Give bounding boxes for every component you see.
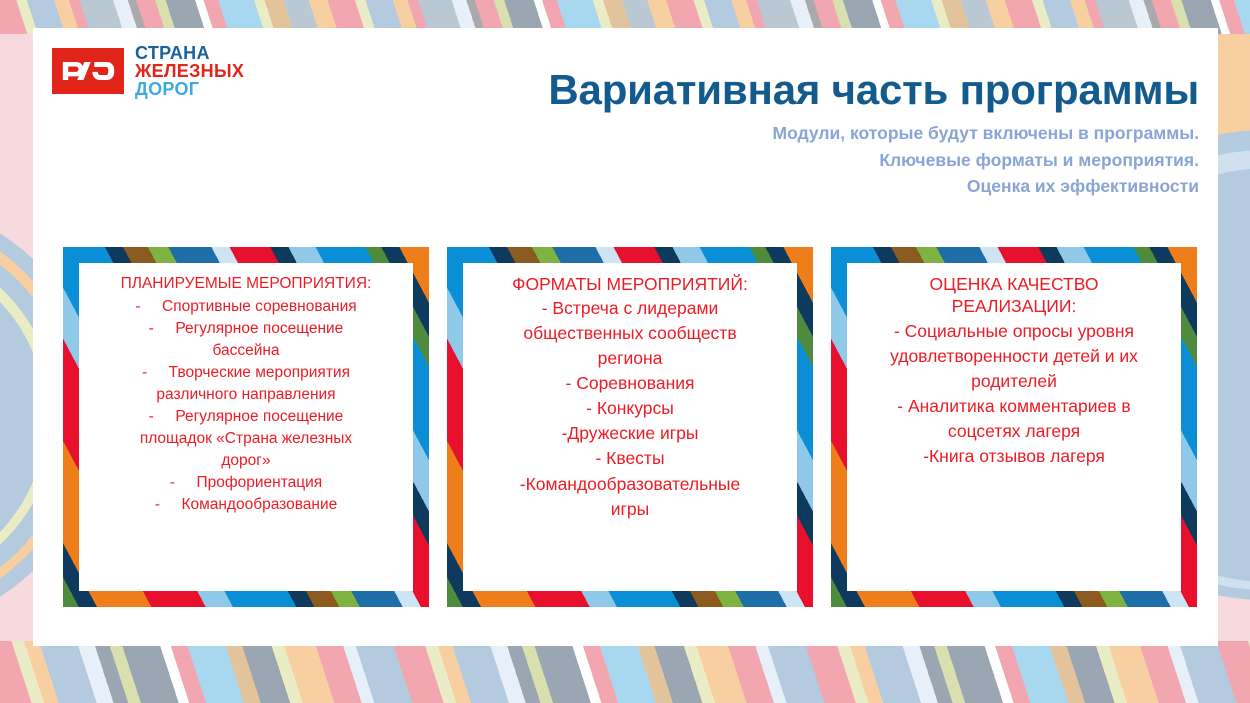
subtitle-line-2: Ключевые форматы и мероприятия. bbox=[519, 147, 1199, 174]
rzd-logo-mark-icon bbox=[52, 48, 124, 94]
logo-word-line1: СТРАНА bbox=[135, 44, 244, 62]
card-line: - Регулярное посещение bbox=[135, 318, 356, 340]
rzd-logo: СТРАНА ЖЕЛЕЗНЫХ ДОРОГ bbox=[52, 44, 244, 98]
card-line: -Командообразовательные bbox=[520, 472, 740, 497]
slide-canvas: СТРАНА ЖЕЛЕЗНЫХ ДОРОГ Вариативная часть … bbox=[33, 28, 1218, 646]
subtitle-line-3: Оценка их эффективности bbox=[519, 173, 1199, 200]
card-line: общественных сообществ bbox=[520, 321, 740, 346]
card-line: - Профориентация bbox=[135, 472, 356, 494]
card-line: региона bbox=[520, 346, 740, 371]
page-subtitle: Модули, которые будут включены в програм… bbox=[519, 120, 1199, 200]
card-line-list: - Спортивные соревнования - Регулярное п… bbox=[135, 296, 356, 516]
card-line: -Книга отзывов лагеря bbox=[890, 444, 1138, 469]
card-line: - Социальные опросы уровня bbox=[890, 319, 1138, 344]
card-quality-assessment: ОЦЕНКА КАЧЕСТВО РЕАЛИЗАЦИИ: - Социальные… bbox=[831, 247, 1197, 607]
card-body: ФОРМАТЫ МЕРОПРИЯТИЙ: - Встреча с лидерам… bbox=[463, 263, 797, 591]
card-title: ФОРМАТЫ МЕРОПРИЯТИЙ: bbox=[512, 273, 748, 295]
card-line: - Встреча с лидерами bbox=[520, 296, 740, 321]
card-line: - Регулярное посещение bbox=[135, 406, 356, 428]
page-title: Вариативная часть программы bbox=[548, 66, 1199, 114]
logo-word-line3: ДОРОГ bbox=[135, 80, 244, 98]
card-line: - Аналитика комментариев в bbox=[890, 394, 1138, 419]
card-line: различного направления bbox=[135, 384, 356, 406]
background-stripes-bottom bbox=[0, 641, 1250, 703]
card-body: ОЦЕНКА КАЧЕСТВО РЕАЛИЗАЦИИ: - Социальные… bbox=[847, 263, 1181, 591]
card-line: удовлетворенности детей и их bbox=[890, 344, 1138, 369]
logo-word-line2: ЖЕЛЕЗНЫХ bbox=[135, 62, 244, 80]
card-title-line-1: ОЦЕНКА КАЧЕСТВО bbox=[930, 273, 1099, 295]
card-body: ПЛАНИРУЕМЫЕ МЕРОПРИЯТИЯ: - Спортивные со… bbox=[79, 263, 413, 591]
card-title: ОЦЕНКА КАЧЕСТВО РЕАЛИЗАЦИИ: bbox=[930, 273, 1099, 318]
card-event-formats: ФОРМАТЫ МЕРОПРИЯТИЙ: - Встреча с лидерам… bbox=[447, 247, 813, 607]
card-line: родителей bbox=[890, 369, 1138, 394]
card-line: дорог» bbox=[135, 450, 356, 472]
card-line: - Квесты bbox=[520, 446, 740, 471]
content-cards: ПЛАНИРУЕМЫЕ МЕРОПРИЯТИЯ: - Спортивные со… bbox=[63, 247, 1198, 607]
card-line: - Соревнования bbox=[520, 371, 740, 396]
card-line: бассейна bbox=[135, 340, 356, 362]
presentation-slide: СТРАНА ЖЕЛЕЗНЫХ ДОРОГ Вариативная часть … bbox=[0, 0, 1250, 703]
card-planned-events: ПЛАНИРУЕМЫЕ МЕРОПРИЯТИЯ: - Спортивные со… bbox=[63, 247, 429, 607]
rzd-logo-wordmark: СТРАНА ЖЕЛЕЗНЫХ ДОРОГ bbox=[135, 44, 244, 98]
card-line-list: - Встреча с лидерами общественных сообще… bbox=[520, 296, 740, 521]
card-line: соцсетях лагеря bbox=[890, 419, 1138, 444]
card-line: площадок «Страна железных bbox=[135, 428, 356, 450]
subtitle-line-1: Модули, которые будут включены в програм… bbox=[519, 120, 1199, 147]
card-line: - Командообразование bbox=[135, 494, 356, 516]
card-line: -Дружеские игры bbox=[520, 421, 740, 446]
card-line: - Конкурсы bbox=[520, 396, 740, 421]
card-title: ПЛАНИРУЕМЫЕ МЕРОПРИЯТИЯ: bbox=[121, 273, 372, 295]
card-line-list: - Социальные опросы уровня удовлетворенн… bbox=[890, 319, 1138, 469]
card-line: - Творческие мероприятия bbox=[135, 362, 356, 384]
card-line: игры bbox=[520, 497, 740, 522]
card-title-line-2: РЕАЛИЗАЦИИ: bbox=[930, 295, 1099, 317]
card-line: - Спортивные соревнования bbox=[135, 296, 356, 318]
